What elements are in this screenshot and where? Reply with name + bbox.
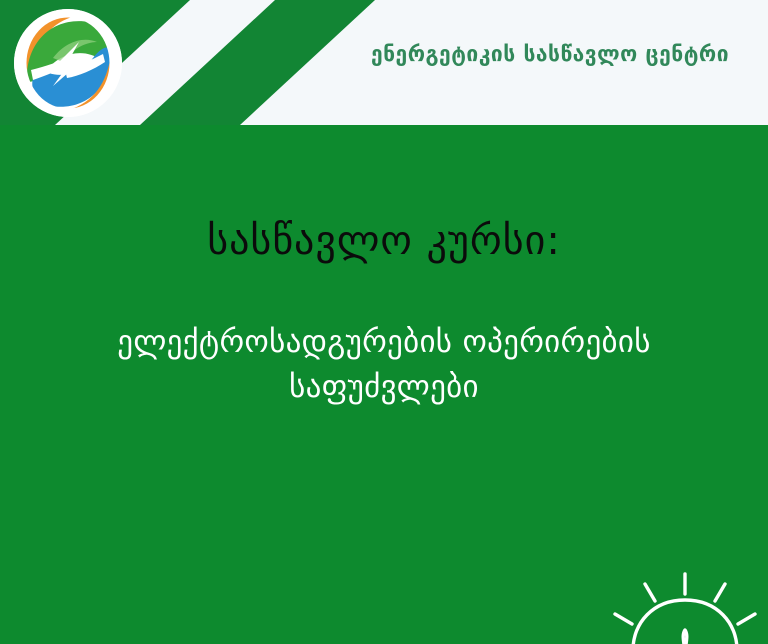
- poster-body: სასწავლო კურსი: ელექტროსადგურების ოპერირ…: [0, 125, 768, 644]
- course-announcement-poster: ენერგეტიკის სასწავლო ცენტრი სასწავლო კურ…: [0, 0, 768, 644]
- course-label: სასწავლო კურსი:: [0, 218, 768, 264]
- bulb-ray: [645, 584, 655, 601]
- bulb-ray: [715, 584, 725, 601]
- course-name: ელექტროსადგურების ოპერირების საფუძვლები: [64, 320, 704, 410]
- course-name-line-2: საფუძვლები: [289, 369, 479, 405]
- bulb-ray: [615, 614, 632, 624]
- header-bar: ენერგეტიკის სასწავლო ცენტრი: [0, 0, 768, 125]
- brand-title: ენერგეტიკის სასწავლო ცენტრი: [355, 41, 745, 68]
- course-name-line-1: ელექტროსადგურების ოპერირების: [117, 324, 650, 360]
- bulb-ray: [738, 614, 755, 624]
- lightbulb-icon: [601, 568, 768, 644]
- energy-training-center-logo: [13, 8, 123, 118]
